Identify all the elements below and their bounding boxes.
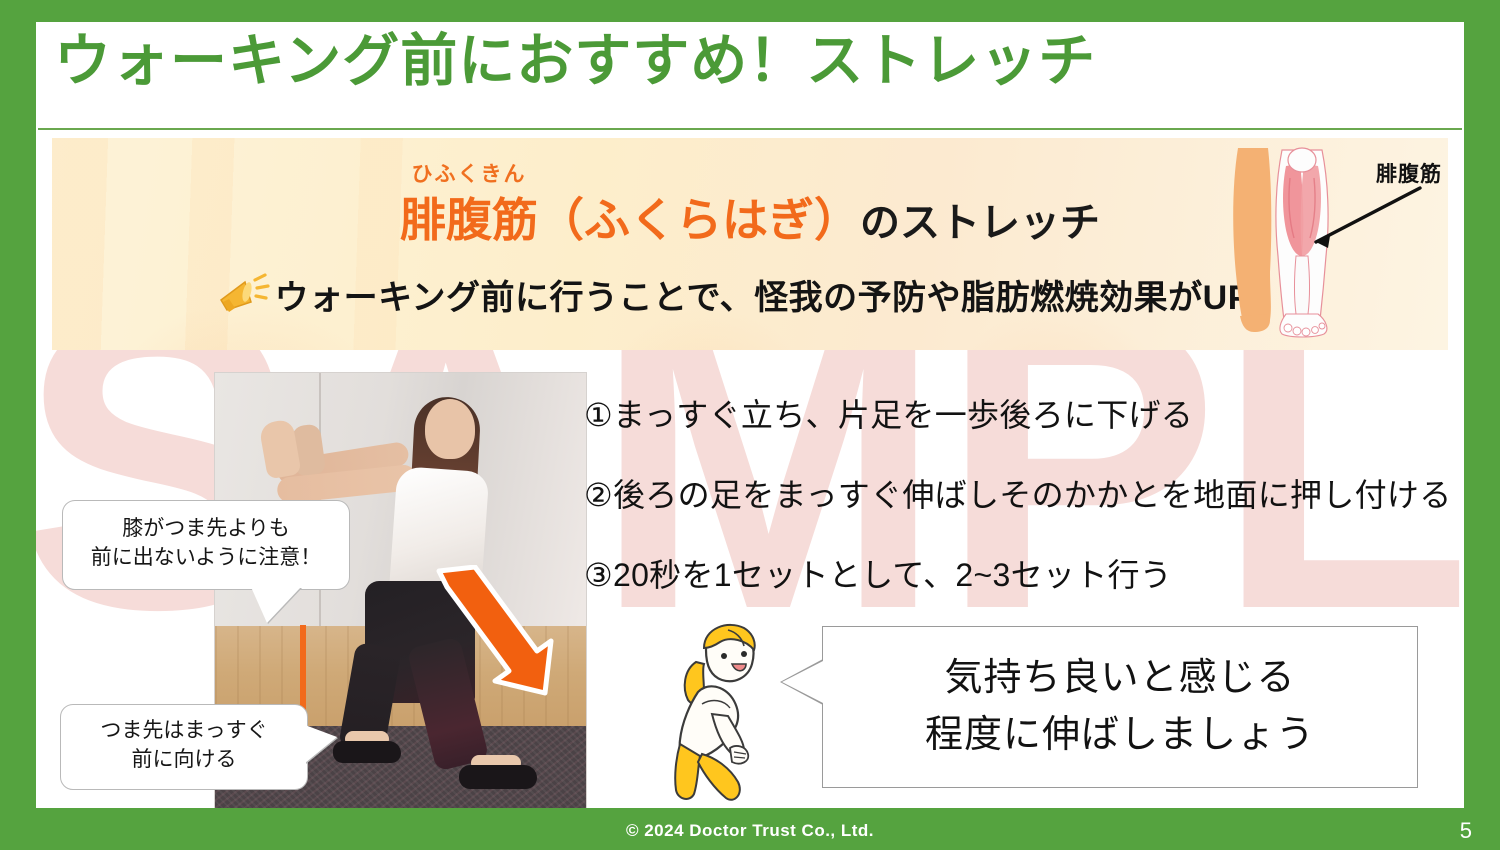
page-number: 5 (1460, 818, 1472, 844)
callout-toe-direction: つま先はまっすぐ 前に向ける (60, 704, 308, 790)
subtitle-text: ウォーキング前に行うことで、怪我の予防や脂肪燃焼効果がUP！ (275, 270, 1286, 319)
down-right-arrow-icon (425, 565, 555, 697)
title-area: ウォーキング前におすすめ！ストレッチ (36, 22, 1464, 130)
step-item-2: ②後ろの足をまっすぐ伸ばしそのかかとを地面に押し付ける (584, 470, 1464, 516)
callout-knee-tail (251, 587, 301, 623)
speech-bubble-line2: 程度に伸ばしましょう (925, 707, 1315, 764)
speech-bubble: 気持ち良いと感じる 程度に伸ばしましょう (822, 626, 1418, 788)
ruby-reading: ひふくきん (400, 158, 538, 188)
callout-knee-warning: 膝がつま先よりも 前に出ないように注意！ (62, 500, 350, 590)
step-item-3: ③20秒を1セットとして、2~3セット行う (584, 550, 1464, 596)
ruby-block: ひふくきん 腓腹筋 (400, 184, 538, 250)
megaphone-icon (215, 272, 271, 318)
slide-root: SAMPLE ウォーキング前におすすめ！ストレッチ ひふくきん 腓腹筋 （ふくら… (0, 0, 1500, 850)
heading-paren-term: （ふくらはぎ） (538, 194, 860, 246)
stretching-woman-illustration-icon (672, 618, 812, 808)
callout-toe-line1: つま先はまっすぐ (69, 717, 299, 746)
heading-tail: のストレッチ (860, 201, 1100, 245)
callout-knee-line2: 前に出ないように注意！ (73, 544, 339, 573)
photo-front-shoe (333, 741, 401, 763)
steps-list: ①まっすぐ立ち、片足を一歩後ろに下げる ②後ろの足をまっすぐ伸ばしそのかかとを地… (584, 390, 1464, 630)
footer-copyright: © 2024 Doctor Trust Co., Ltd. (0, 821, 1500, 841)
photo-head (425, 399, 475, 459)
callout-toe-tail (305, 725, 337, 763)
anatomy-label: 腓腹筋 (1376, 158, 1442, 188)
callout-knee-line1: 膝がつま先よりも (73, 515, 339, 544)
heading-main-term: 腓腹筋 (400, 194, 538, 246)
photo-back-shoe (459, 765, 537, 789)
callout-toe-line2: 前に向ける (69, 746, 299, 775)
speech-bubble-line1: 気持ち良いと感じる (944, 650, 1295, 707)
step-item-1: ①まっすぐ立ち、片足を一歩後ろに下げる (584, 390, 1464, 436)
page-title: ウォーキング前におすすめ！ストレッチ (54, 30, 1096, 93)
speech-bubble-tail (782, 661, 823, 703)
header-banner: ひふくきん 腓腹筋 （ふくらはぎ）のストレッチ ウォーキング前に行うことで、怪我… (52, 138, 1448, 350)
slide-page: SAMPLE ウォーキング前におすすめ！ストレッチ ひふくきん 腓腹筋 （ふくら… (36, 22, 1464, 808)
